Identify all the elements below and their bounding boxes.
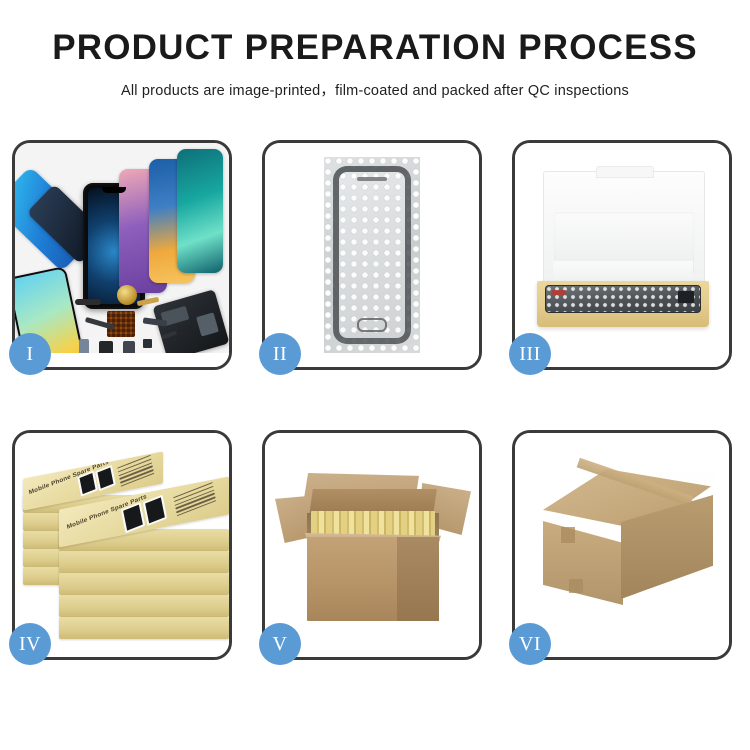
process-step-5[interactable]: V — [262, 430, 482, 660]
carton-tab-lower — [569, 579, 583, 593]
bubble-wrap-sheet — [324, 157, 420, 353]
step-badge-1: I — [9, 333, 51, 375]
step-2-image — [265, 143, 479, 367]
page-header: PRODUCT PREPARATION PROCESS All products… — [0, 0, 750, 100]
page-subtitle: All products are image-printed，film-coat… — [0, 79, 750, 100]
step-badge-6: VI — [509, 623, 551, 665]
stacked-retail-boxes-illustration: Mobile Phone Spare Parts — [15, 433, 229, 657]
step-3-image — [515, 143, 729, 367]
step-6-image — [515, 433, 729, 657]
wrapped-phone-screen — [333, 166, 411, 344]
stacked-box-front-2 — [59, 595, 229, 617]
teal-phone — [177, 149, 223, 273]
carton-body — [307, 537, 439, 621]
step-4-image: Mobile Phone Spare Parts — [15, 433, 229, 657]
step-5-image — [265, 433, 479, 657]
step-badge-5: V — [259, 623, 301, 665]
sealed-shipping-carton-illustration — [515, 433, 729, 657]
process-step-6[interactable]: VI — [512, 430, 732, 660]
screen-in-open-mailer-box-illustration — [515, 143, 729, 367]
process-step-2[interactable]: II — [262, 140, 482, 370]
speaker-coil-part — [117, 285, 137, 305]
stacked-box-front-3 — [59, 573, 229, 595]
flex-cable-part-1 — [75, 299, 101, 305]
kraft-box-tray — [537, 281, 709, 327]
open-carton-with-boxes-illustration — [265, 433, 479, 657]
stacked-box-front-4 — [59, 551, 229, 573]
step-badge-2: II — [259, 333, 301, 375]
rear-box-phone-image-1 — [77, 470, 98, 496]
wrapped-screen-in-tray — [545, 285, 701, 313]
process-step-grid: I II III — [12, 140, 738, 685]
rear-box-spec-lines — [117, 455, 155, 489]
rear-box-phone-image-2 — [95, 465, 116, 491]
front-box-spec-lines — [173, 482, 217, 519]
process-step-1[interactable]: I — [12, 140, 232, 370]
step-badge-3: III — [509, 333, 551, 375]
step-1-image — [15, 143, 229, 367]
carton-tab-upper — [561, 527, 575, 543]
phone-parts-assortment-illustration — [15, 143, 229, 367]
box-stack: Mobile Phone Spare Parts — [23, 455, 229, 641]
chip-part — [143, 339, 152, 348]
step-badge-4: IV — [9, 623, 51, 665]
bubble-wrapped-screen-illustration — [265, 143, 479, 367]
stacked-box-front-1 — [59, 617, 229, 639]
page-title: PRODUCT PREPARATION PROCESS — [0, 30, 750, 65]
process-step-4[interactable]: Mobile Phone Spare Parts — [12, 430, 232, 660]
screen-notch — [102, 187, 126, 193]
sealed-carton-left-face — [543, 521, 623, 605]
process-step-3[interactable]: III — [512, 140, 732, 370]
